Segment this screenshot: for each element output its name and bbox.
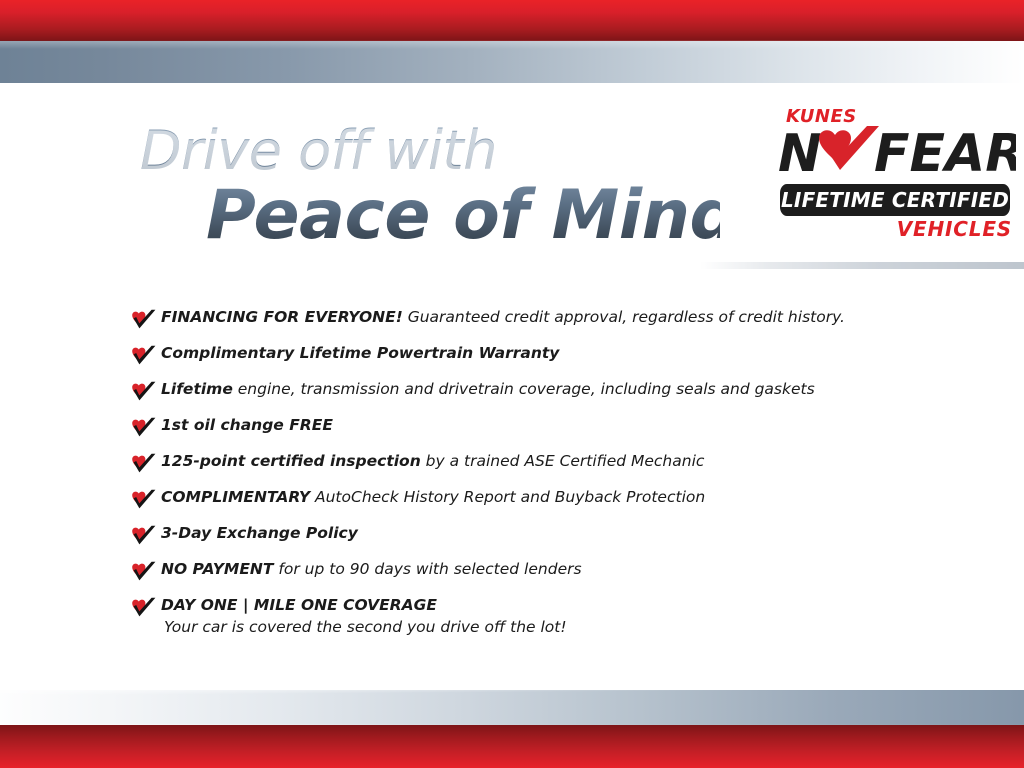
- top-banner: [0, 0, 1024, 84]
- benefit-headline: Lifetime: [161, 380, 233, 398]
- top-gray-band: [0, 41, 1024, 83]
- benefit-text: Lifetime engine, transmission and drivet…: [161, 380, 815, 399]
- logo-letters-fear: FEAR: [874, 124, 1016, 184]
- heart-check-icon: [130, 381, 156, 403]
- benefit-text: FINANCING FOR EVERYONE! Guaranteed credi…: [161, 308, 845, 327]
- benefit-text: 3-Day Exchange Policy: [161, 524, 358, 543]
- bottom-banner: [0, 690, 1024, 768]
- logo-check-icon: [825, 126, 879, 170]
- benefit-headline: COMPLIMENTARY: [161, 488, 310, 506]
- heart-check-icon: [130, 561, 156, 583]
- benefit-item: COMPLIMENTARY AutoCheck History Report a…: [130, 488, 930, 511]
- logo-lifetime-certified-bar: LIFETIME CERTIFIED: [780, 184, 1010, 216]
- benefit-item: 1st oil change FREE: [130, 416, 930, 439]
- heart-check-icon: [130, 453, 156, 475]
- benefit-headline: NO PAYMENT: [161, 560, 273, 578]
- benefit-headline: 3-Day Exchange Policy: [161, 524, 358, 542]
- benefit-text: COMPLIMENTARY AutoCheck History Report a…: [161, 488, 705, 507]
- headline-line-1: Drive off with: [140, 124, 720, 178]
- logo-vehicles-text: VEHICLES: [897, 217, 1012, 241]
- heart-check-icon: [130, 489, 156, 511]
- benefit-headline: 125-point certified inspection: [161, 452, 421, 470]
- headline: Drive off with Peace of Mind: [140, 124, 720, 250]
- heart-check-icon: [130, 345, 156, 367]
- benefit-detail: engine, transmission and drivetrain cove…: [233, 380, 815, 398]
- benefit-text: DAY ONE | MILE ONE COVERAGEYour car is c…: [161, 596, 567, 637]
- benefit-item: FINANCING FOR EVERYONE! Guaranteed credi…: [130, 308, 930, 331]
- logo-no-fear-wordmark: N FEAR: [778, 124, 1016, 184]
- benefit-item: Complimentary Lifetime Powertrain Warran…: [130, 344, 930, 367]
- bottom-red-band: [0, 725, 1024, 768]
- headline-divider: [700, 262, 1024, 269]
- benefit-detail: for up to 90 days with selected lenders: [273, 560, 581, 578]
- benefit-subline: Your car is covered the second you drive…: [164, 618, 567, 637]
- benefit-text: 125-point certified inspection by a trai…: [161, 452, 704, 471]
- benefit-item: DAY ONE | MILE ONE COVERAGEYour car is c…: [130, 596, 930, 637]
- top-red-band: [0, 0, 1024, 41]
- logo-letter-n: N: [778, 124, 822, 184]
- benefit-item: 3-Day Exchange Policy: [130, 524, 930, 547]
- benefit-headline: FINANCING FOR EVERYONE!: [161, 308, 403, 326]
- benefit-detail: AutoCheck History Report and Buyback Pro…: [310, 488, 705, 506]
- benefit-detail: by a trained ASE Certified Mechanic: [421, 452, 705, 470]
- kunes-no-fear-logo: KUNES N FEAR LIFETIME CERTIFIED VEHICLES: [772, 106, 1016, 241]
- benefit-headline: Complimentary Lifetime Powertrain Warran…: [161, 344, 559, 362]
- headline-line-2: Peace of Mind: [206, 182, 720, 250]
- benefit-text: Complimentary Lifetime Powertrain Warran…: [161, 344, 559, 363]
- benefit-item: 125-point certified inspection by a trai…: [130, 452, 930, 475]
- benefits-list: FINANCING FOR EVERYONE! Guaranteed credi…: [130, 308, 930, 650]
- heart-check-icon: [130, 309, 156, 331]
- heart-check-icon: [130, 525, 156, 547]
- benefit-detail: Guaranteed credit approval, regardless o…: [403, 308, 845, 326]
- heart-check-icon: [130, 597, 156, 619]
- benefit-text: NO PAYMENT for up to 90 days with select…: [161, 560, 582, 579]
- heart-check-icon: [130, 417, 156, 439]
- benefit-headline: 1st oil change FREE: [161, 416, 333, 434]
- benefit-headline: DAY ONE | MILE ONE COVERAGE: [161, 596, 437, 614]
- benefit-item: Lifetime engine, transmission and drivet…: [130, 380, 930, 403]
- benefit-text: 1st oil change FREE: [161, 416, 333, 435]
- logo-lifetime-certified-text: LIFETIME CERTIFIED: [781, 188, 1009, 212]
- benefit-item: NO PAYMENT for up to 90 days with select…: [130, 560, 930, 583]
